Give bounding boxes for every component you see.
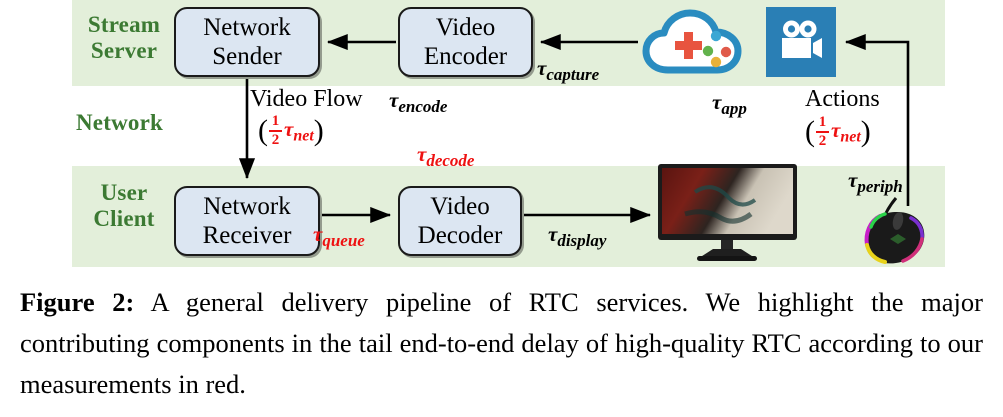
figure-diagram: Stream Server Network User Client Networ…: [0, 0, 1003, 272]
label-video-flow: Video Flow: [250, 86, 363, 113]
tau-net-symbol: τnet: [284, 117, 314, 145]
cloud-gaming-icon: [640, 8, 752, 76]
label-tau-decode: τdecode: [417, 142, 474, 171]
paren-open: (: [805, 117, 815, 147]
caption-text: A general delivery pipeline of RTC servi…: [20, 287, 983, 399]
video-camera-tile: [766, 7, 836, 77]
fraction-denominator: 2: [817, 134, 829, 149]
figure-caption: Figure 2: A general delivery pipeline of…: [20, 282, 983, 405]
tier-label-user-client: User Client: [76, 180, 172, 232]
label-half-tau-net-video: ( 1 2 τnet ): [258, 114, 324, 149]
paren-close: ): [861, 117, 871, 147]
tau-net-symbol: τnet: [831, 118, 861, 146]
label-tau-periph: τperiph: [848, 168, 903, 197]
fraction-one-half: 1 2: [269, 114, 282, 149]
box-video-decoder: Video Decoder: [398, 186, 522, 256]
label-tau-queue: τqueue: [313, 222, 365, 251]
label-tau-app: τapp: [712, 90, 747, 119]
label-tau-encode: τencode: [389, 88, 447, 117]
label-tau-display: τdisplay: [548, 222, 606, 251]
tier-label-stream-server: Stream Server: [76, 12, 172, 64]
computer-monitor-icon: [655, 162, 800, 262]
video-camera-icon: [766, 7, 836, 77]
fraction-numerator: 1: [270, 114, 282, 129]
paren-open: (: [258, 116, 268, 146]
gaming-mouse-icon: [856, 194, 940, 266]
label-actions: Actions: [805, 86, 880, 113]
caption-label: Figure 2:: [20, 287, 134, 317]
fraction-denominator: 2: [270, 133, 282, 148]
fraction-one-half: 1 2: [816, 115, 829, 150]
fraction-numerator: 1: [817, 115, 829, 130]
box-video-encoder: Video Encoder: [398, 7, 533, 77]
label-half-tau-net-actions: ( 1 2 τnet ): [805, 115, 871, 150]
box-network-receiver: Network Receiver: [174, 186, 320, 256]
label-tau-capture: τcapture: [537, 56, 599, 85]
paren-close: ): [314, 116, 324, 146]
box-network-sender: Network Sender: [174, 7, 320, 77]
tier-label-network: Network: [70, 110, 182, 136]
